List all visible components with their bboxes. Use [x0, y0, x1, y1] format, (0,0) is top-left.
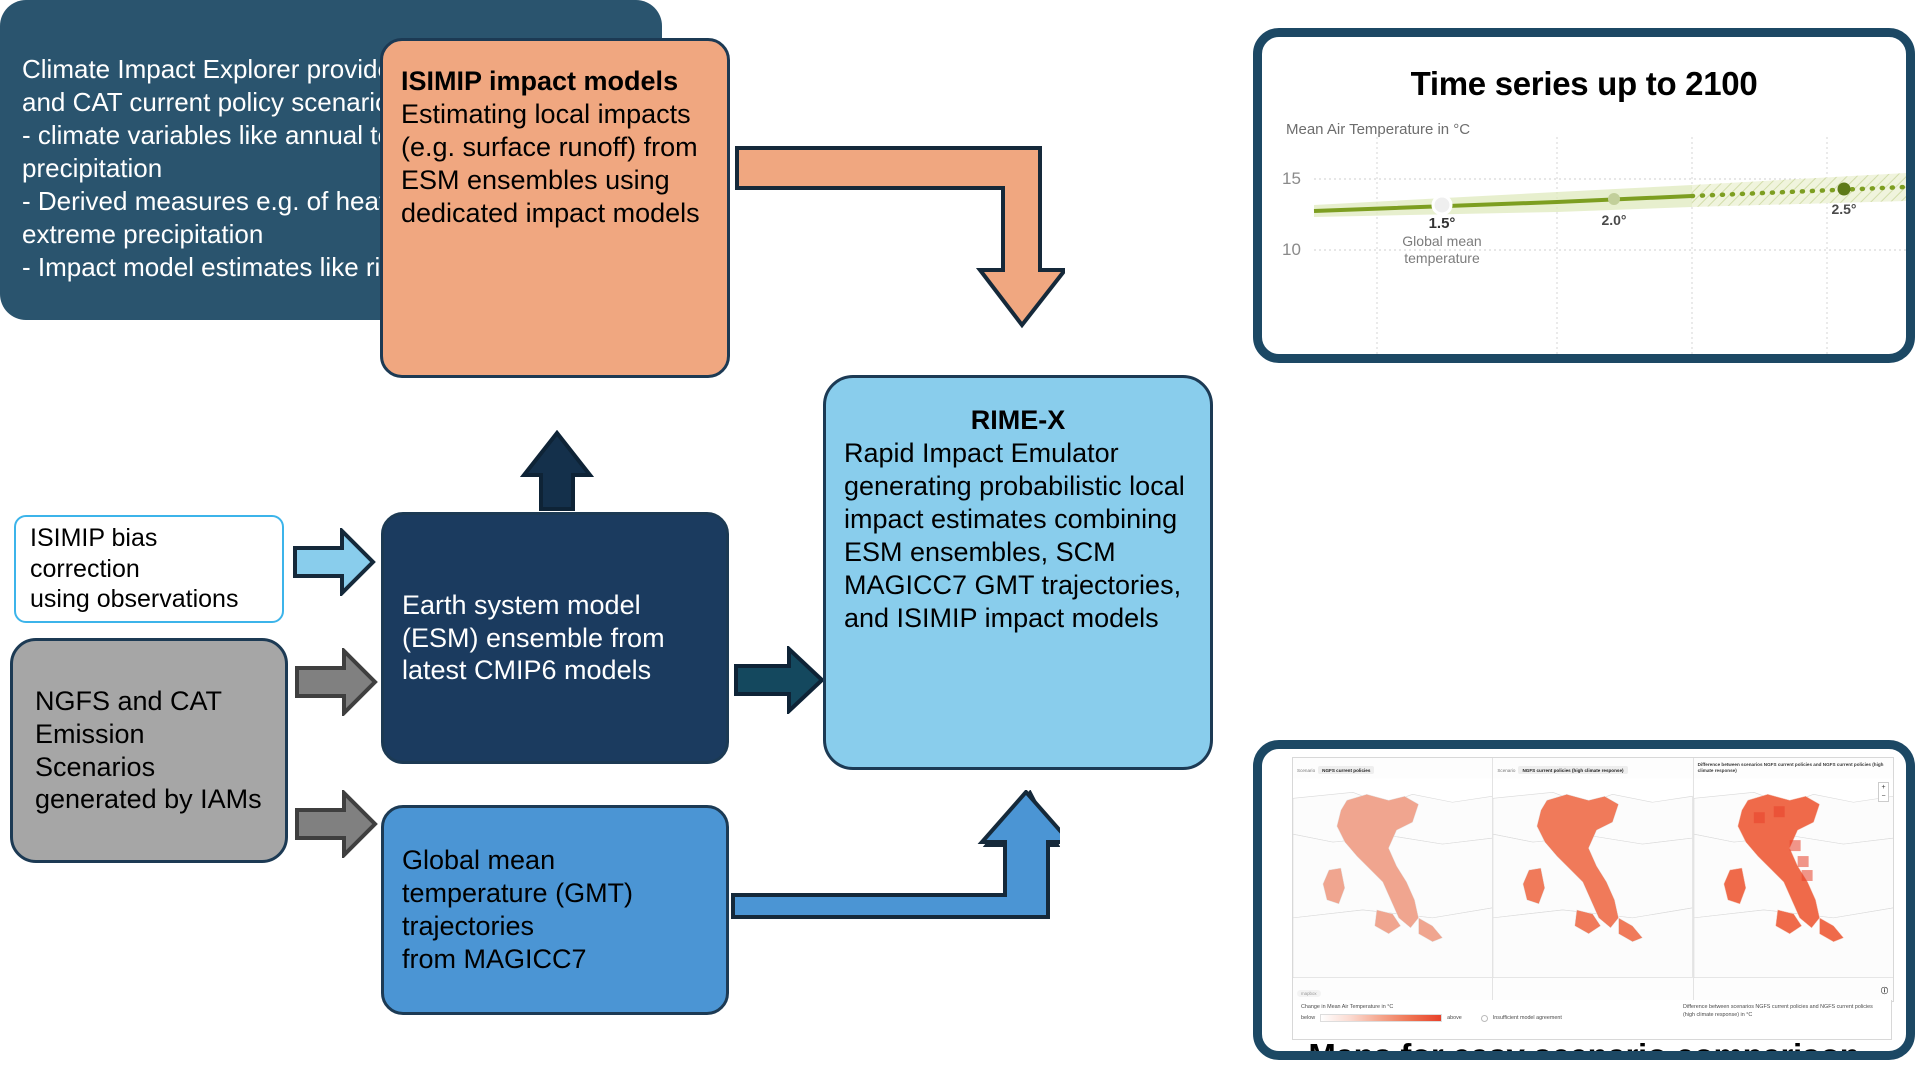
map-info-icon[interactable]: ⓘ — [1881, 986, 1888, 996]
legend-min-label: below — [1301, 1015, 1315, 1021]
arrow-ngfs-to-gmt — [294, 790, 378, 858]
time-series-panel: Time series up to 2100 Mean Air Temperat… — [1253, 28, 1915, 363]
map-zoom-out-button[interactable]: − — [1879, 792, 1888, 801]
map-2-header: Scenario NGFS current policies (high cli… — [1497, 761, 1688, 779]
diagram-canvas: ISIMIP impact models Estimating local im… — [0, 0, 1920, 1080]
arrow-gmt-to-rime-shape — [730, 790, 1060, 920]
legend-right-title: Difference between scenarios NGFS curren… — [1683, 1004, 1883, 1019]
node-isimip-impact-models: ISIMIP impact models Estimating local im… — [380, 38, 730, 378]
bias-body: ISIMIP bias correction using observation… — [30, 523, 268, 615]
chart-annotation-1-5: 1.5° Global mean temperature — [1392, 215, 1492, 267]
node-gmt-trajectories: Global mean temperature (GMT) trajectori… — [381, 805, 729, 1015]
rime-body: Rapid Impact Emulator generating probabi… — [844, 437, 1192, 635]
node-earth-system-model: Earth system model (ESM) ensemble from l… — [381, 512, 729, 764]
arrow-isimip-to-rime — [735, 140, 1065, 330]
node-isimip-bias-correction: ISIMIP bias correction using observation… — [14, 515, 284, 623]
map-1-scenario-select[interactable]: NGFS current policies — [1318, 766, 1374, 774]
gmt-body: Global mean temperature (GMT) trajectori… — [402, 844, 708, 976]
maps-screenshot: Scenario NGFS current policies — [1292, 757, 1894, 1002]
chart-svg — [1262, 137, 1906, 363]
chart-annotation-2-5: 2.5° — [1814, 201, 1874, 217]
map-column-2: Scenario NGFS current policies (high cli… — [1493, 758, 1693, 1001]
arrow-esm-to-rime — [733, 646, 825, 714]
chart-annotation-1-5-sublabel: Global mean temperature — [1392, 233, 1492, 267]
map-zoom-controls[interactable]: + − — [1878, 782, 1889, 802]
maps-caption: Maps for easy scenario comparison — [1262, 1037, 1906, 1060]
map-column-3: Difference between scenarios NGFS curren… — [1694, 758, 1893, 1001]
arrow-ngfs-to-esm — [294, 648, 378, 716]
map-1-italy[interactable] — [1293, 778, 1492, 978]
esm-body: Earth system model (ESM) ensemble from l… — [402, 589, 708, 688]
chart-annotation-2-5-label: 2.5° — [1831, 201, 1856, 217]
map-1-header: Scenario NGFS current policies — [1297, 761, 1488, 779]
chart-annotation-1-5-label: 1.5° — [1392, 215, 1492, 232]
legend-max-label: above — [1447, 1015, 1462, 1021]
arrow-esm-to-isimip — [520, 430, 594, 512]
rime-title: RIME-X — [844, 404, 1192, 437]
time-series-title: Time series up to 2100 — [1262, 65, 1906, 103]
map-1-scenario-label: Scenario — [1297, 768, 1315, 773]
maps-panel: Scenario NGFS current policies — [1253, 740, 1915, 1060]
map-zoom-in-button[interactable]: + — [1879, 783, 1888, 792]
map-2-italy[interactable] — [1493, 778, 1692, 978]
chart-ytick-10: 10 — [1282, 240, 1301, 260]
node-rime-x: RIME-X Rapid Impact Emulator generating … — [823, 375, 1213, 770]
legend-agreement-swatch — [1481, 1015, 1488, 1022]
map-3-italy[interactable] — [1694, 778, 1893, 978]
isimip-body: Estimating local impacts (e.g. surface r… — [401, 98, 709, 230]
chart-annotation-2-0: 2.0° — [1584, 212, 1644, 228]
chart-plot-area: 15 10 — [1262, 137, 1906, 354]
ngfs-body: NGFS and CAT Emission Scenarios generate… — [35, 685, 263, 817]
legend-color-bar — [1320, 1014, 1442, 1022]
map-3-difference-label: Difference between scenarios NGFS curren… — [1698, 762, 1884, 773]
map-column-1: Scenario NGFS current policies — [1293, 758, 1493, 1001]
mapbox-attribution: mapbox — [1297, 990, 1321, 997]
node-ngfs-cat-emission-scenarios: NGFS and CAT Emission Scenarios generate… — [10, 638, 288, 863]
chart-ytick-15: 15 — [1282, 169, 1301, 189]
chart-annotation-2-0-label: 2.0° — [1601, 212, 1626, 228]
isimip-title: ISIMIP impact models — [401, 65, 709, 98]
chart-y-axis-label: Mean Air Temperature in °C — [1286, 121, 1470, 138]
legend-note: Insufficient model agreement — [1493, 1015, 1562, 1021]
arrow-bias-to-esm — [292, 528, 376, 596]
map-2-scenario-select[interactable]: NGFS current policies (high climate resp… — [1518, 766, 1627, 774]
map-2-scenario-label: Scenario — [1497, 768, 1515, 773]
maps-legend: Change in Mean Air Temperature in °C bel… — [1292, 1000, 1892, 1040]
